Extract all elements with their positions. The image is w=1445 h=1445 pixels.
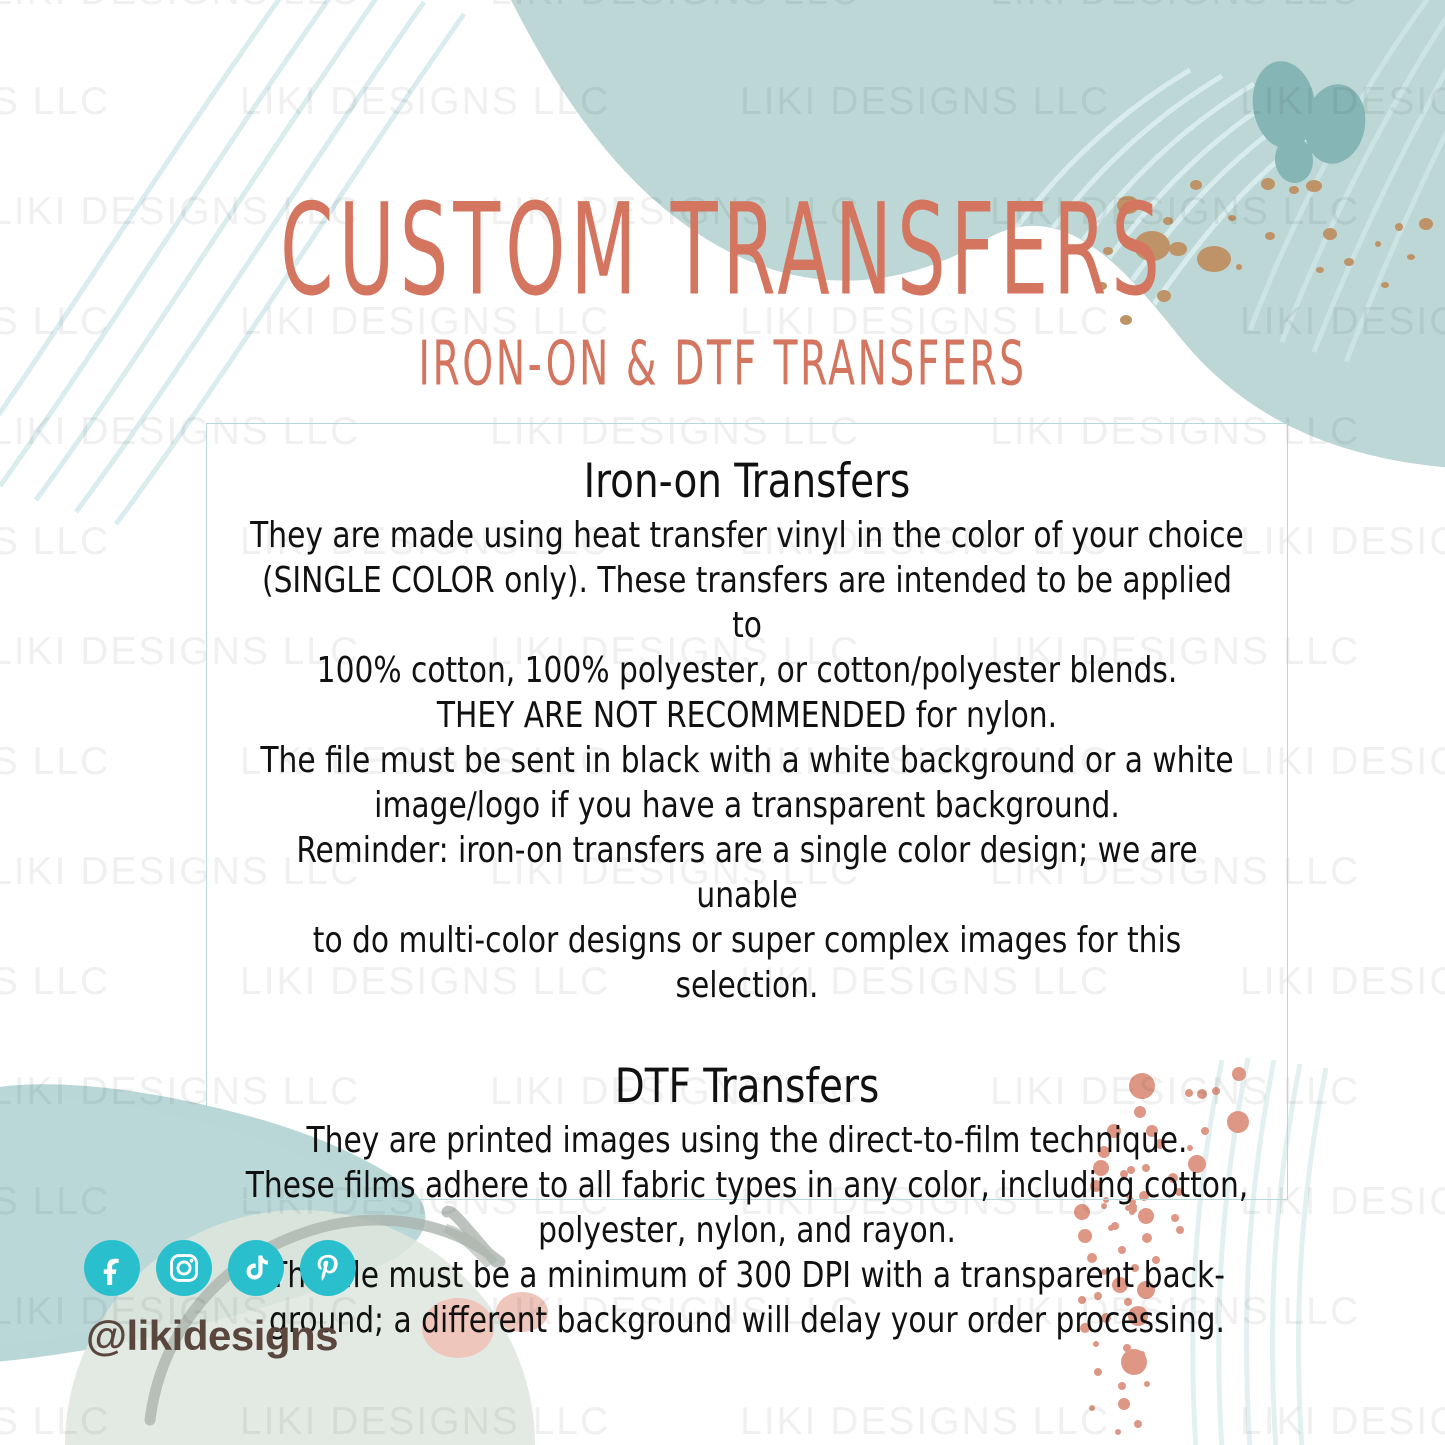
watermark-row: LIKI DESIGNS LLCLIKI DESIGNS LLCLIKI DES… <box>0 1400 1440 1444</box>
tiktok-icon[interactable] <box>228 1240 284 1296</box>
section-body-iron-on: They are made using heat transfer vinyl … <box>244 513 1250 1008</box>
watermark-text: LIKI DESIGNS LLC <box>0 80 240 124</box>
watermark-text: LIKI DESIGNS LLC <box>0 520 240 564</box>
section-heading-dtf: DTF Transfers <box>249 1060 1244 1114</box>
social-handle: @likidesigns <box>86 1312 356 1360</box>
watermark-text: LIKI DESIGNS LLC <box>240 1400 740 1444</box>
info-sections: Iron-on Transfers They are made using he… <box>206 423 1288 1343</box>
social-icon-row <box>84 1240 356 1296</box>
instagram-icon[interactable] <box>156 1240 212 1296</box>
section-heading-iron-on: Iron-on Transfers <box>249 455 1244 509</box>
social-block: @likidesigns <box>84 1240 356 1360</box>
section-iron-on: Iron-on Transfers They are made using he… <box>206 455 1288 1008</box>
watermark-text: LIKI DESIGNS LLC <box>0 960 240 1004</box>
watermark-text: LIKI DESIGNS LLC <box>0 1180 240 1224</box>
watermark-row: LIKI DESIGNS LLCLIKI DESIGNS LLCLIKI DES… <box>0 0 1445 14</box>
page-subtitle: IRON-ON & DTF TRANSFERS <box>116 334 1330 395</box>
section-body-dtf: They are printed images using the direct… <box>244 1118 1250 1343</box>
section-dtf: DTF Transfers They are printed images us… <box>206 1060 1288 1343</box>
pinterest-icon[interactable] <box>300 1240 356 1296</box>
watermark-text: LIKI DESIGNS LLC <box>740 80 1240 124</box>
watermark-text: LIKI DESIGNS LLC <box>0 1400 240 1444</box>
page-title: CUSTOM TRANSFERS <box>130 186 1315 313</box>
poster-canvas: LIKI DESIGNS LLCLIKI DESIGNS LLCLIKI DES… <box>0 0 1445 1445</box>
header-block: CUSTOM TRANSFERS IRON-ON & DTF TRANSFERS <box>0 186 1445 386</box>
watermark-text: LIKI DESIGNS LLC <box>490 0 990 14</box>
watermark-text: LIKI DESIGNS LLC <box>740 1400 1240 1444</box>
watermark-text: LIKI DESIGNS LLC <box>990 0 1445 14</box>
watermark-text: LIKI DESIGNS LLC <box>1240 80 1445 124</box>
watermark-text: LIKI DESIGNS LLC <box>0 740 240 784</box>
watermark-text: LIKI DESIGNS LLC <box>0 0 490 14</box>
watermark-text: LIKI DESIGNS LLC <box>240 80 740 124</box>
teal-pebble-dots <box>1247 57 1371 185</box>
watermark-text: LIKI DESIGNS LLC <box>1240 1400 1445 1444</box>
watermark-row: LIKI DESIGNS LLCLIKI DESIGNS LLCLIKI DES… <box>0 80 1440 124</box>
facebook-icon[interactable] <box>84 1240 140 1296</box>
